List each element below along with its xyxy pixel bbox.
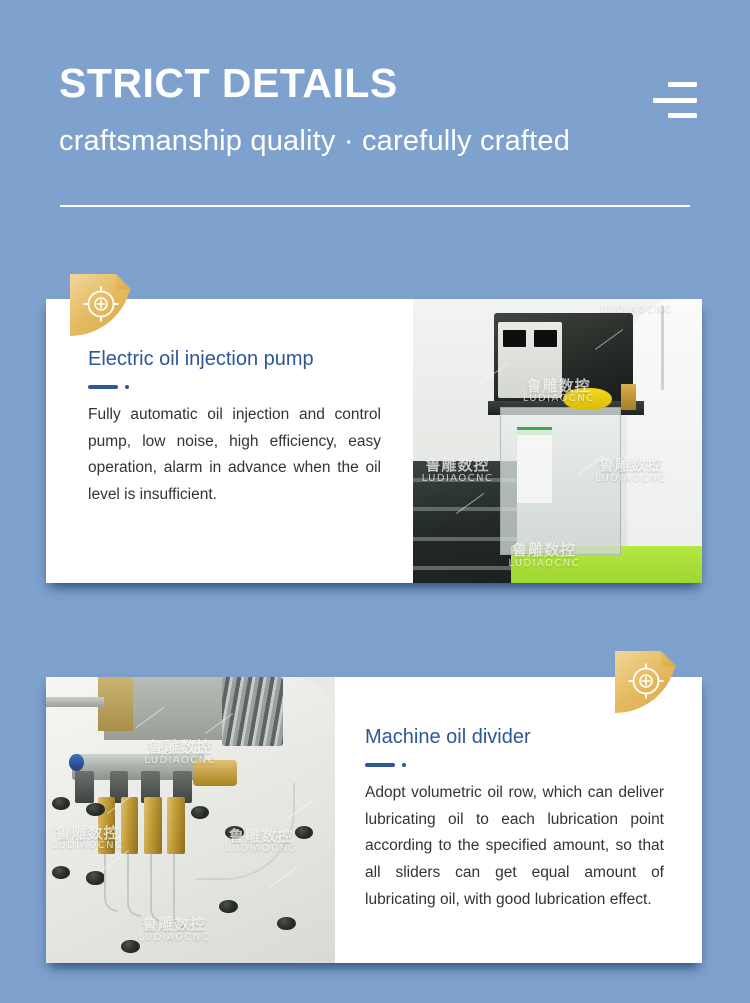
brass-nipple [144, 797, 161, 854]
plate-hole [86, 803, 104, 816]
brass-elbow-fitting [193, 760, 236, 786]
oil-tube [173, 854, 187, 928]
photo-illustration: 鲁雕数控 LUDIAOCNC 鲁雕数控 LUDIAOCNC 鲁雕数控 LUDIA… [413, 299, 702, 583]
brass-fitting [621, 384, 635, 410]
machine-side-panel [627, 299, 702, 583]
deco-dash [365, 763, 395, 767]
card-body-text: Fully automatic oil injection and contro… [88, 402, 381, 509]
page-header: STRICT DETAILS craftsmanship quality · c… [0, 0, 750, 230]
yellow-filler-cap [563, 388, 612, 409]
pump-display-left [503, 330, 526, 347]
crosshair-target-icon [627, 662, 665, 700]
card-text-block: Electric oil injection pump Fully automa… [46, 299, 413, 583]
title-decoration [365, 763, 664, 767]
brass-nipple [167, 797, 184, 854]
plate-hole [295, 826, 313, 839]
oil-hose [661, 305, 664, 390]
deco-dash [88, 385, 118, 389]
pump-display-right [534, 330, 557, 347]
outlet-fitting [75, 771, 94, 802]
title-decoration [88, 385, 381, 389]
page-title: STRICT DETAILS [59, 63, 398, 104]
card-photo-machine-oil-divider: 鲁雕数控 LUDIAOCNC 鲁雕数控 LUDIAOCNC 鲁雕数控 LUDIA… [46, 677, 335, 963]
ball-screw-shaft [222, 677, 283, 746]
tank-label [517, 430, 552, 504]
feature-card-electric-oil-injection-pump[interactable]: Electric oil injection pump Fully automa… [46, 299, 702, 583]
menu-bar-middle [653, 98, 697, 103]
card-text-block: Machine oil divider Adopt volumetric oil… [335, 677, 702, 963]
deco-dot [125, 385, 129, 389]
oil-tube [150, 854, 164, 923]
menu-bar-top [668, 82, 697, 87]
menu-bar-bottom [668, 113, 697, 118]
card-photo-electric-oil-injection-pump: 鲁雕数控 LUDIAOCNC 鲁雕数控 LUDIAOCNC 鲁雕数控 LUDIA… [413, 299, 702, 583]
plate-hole [219, 900, 237, 913]
deco-dot [402, 763, 406, 767]
bed-rail [413, 566, 517, 570]
page-subtitle: craftsmanship quality · carefully crafte… [59, 126, 570, 158]
crosshair-target-icon [82, 285, 120, 323]
header-divider [60, 205, 690, 207]
brass-nipple [121, 797, 138, 854]
photo-illustration: 鲁雕数控 LUDIAOCNC 鲁雕数控 LUDIAOCNC 鲁雕数控 LUDIA… [46, 677, 335, 963]
blue-push-fitting [69, 754, 83, 771]
card-body-text: Adopt volumetric oil row, which can deli… [365, 780, 664, 913]
card-title: Machine oil divider [365, 725, 664, 749]
plate-hole [86, 871, 104, 884]
linear-rail [46, 697, 104, 707]
card-title: Electric oil injection pump [88, 347, 381, 371]
plate-hole [52, 866, 70, 879]
oil-tube [127, 854, 141, 917]
plate-hole [121, 940, 139, 953]
hamburger-menu-icon[interactable] [653, 82, 697, 118]
feature-card-machine-oil-divider[interactable]: 鲁雕数控 LUDIAOCNC 鲁雕数控 LUDIAOCNC 鲁雕数控 LUDIA… [46, 677, 702, 963]
